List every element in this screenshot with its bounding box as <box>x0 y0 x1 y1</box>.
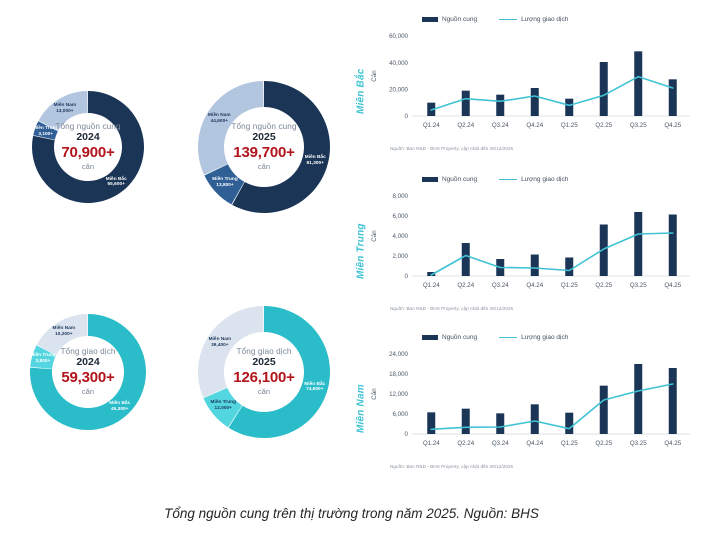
bar-Q4.24 <box>531 404 539 434</box>
bar-Q4.25 <box>669 368 677 434</box>
legend-bar-label: Nguồn cung <box>442 176 477 183</box>
donut-segment-miền-nam <box>198 306 264 397</box>
y-tick-label: 8,000 <box>393 193 409 200</box>
x-tick-label: Q3.24 <box>492 122 509 129</box>
y-tick-label: 0 <box>405 431 409 438</box>
donut-segment-miền-nam <box>39 91 88 131</box>
legend-item-supply: Nguồn cung <box>422 16 477 23</box>
legend-line-label: Lượng giao dịch <box>521 16 568 23</box>
x-tick-label: Q1.25 <box>561 282 578 289</box>
y-tick-label: 0 <box>405 113 409 120</box>
bar-Q1.25 <box>565 413 573 434</box>
bar-Q3.25 <box>634 51 642 116</box>
x-tick-label: Q4.25 <box>664 440 681 447</box>
chart-block-mien-trung: Miền TrungNguồn cungLượng giao dịch02,00… <box>352 174 703 322</box>
donut-chart-supply-2025: Miền Bắc81,300+Miền Trung13,800+Miền Nam… <box>176 34 352 259</box>
donut-chart-transactions-2025: Miền Bắc74,600+Miền Trung12,000+Miền Nam… <box>176 259 352 484</box>
chart-region-label-mien-trung: Miền Trung <box>354 208 368 294</box>
x-tick-label: Q4.25 <box>664 122 681 129</box>
bar-Q4.25 <box>669 79 677 116</box>
bar-Q3.24 <box>496 95 504 116</box>
y-tick-label: 6,000 <box>393 213 409 220</box>
bar-Q3.24 <box>496 413 504 434</box>
x-tick-label: Q1.24 <box>423 122 440 129</box>
y-axis-title: Căn <box>371 230 378 242</box>
donut-segment-miền-nam <box>37 314 88 355</box>
chart-block-mien-nam: Miền NamNguồn cungLượng giao dịch06,0001… <box>352 332 703 484</box>
x-tick-label: Q2.25 <box>595 282 612 289</box>
bar-Q2.25 <box>600 62 608 116</box>
chart-plot-mien-bac: 020,00040,00060,000CănQ1.24Q2.24Q3.24Q4.… <box>368 24 698 142</box>
donut-chart-supply-2024: Miền Bắc55,600+Miền Trung3,100+Miền Nam1… <box>0 34 176 259</box>
chart-legend: Nguồn cungLượng giao dịch <box>422 334 568 341</box>
chart-legend: Nguồn cungLượng giao dịch <box>422 16 568 23</box>
y-tick-label: 6,000 <box>393 411 409 418</box>
legend-item-supply: Nguồn cung <box>422 176 477 183</box>
x-tick-label: Q2.24 <box>457 440 474 447</box>
x-tick-label: Q4.24 <box>526 122 543 129</box>
bar-Q3.25 <box>634 364 642 434</box>
x-tick-label: Q1.24 <box>423 440 440 447</box>
bar-Q1.25 <box>565 99 573 116</box>
bar-Q3.25 <box>634 212 642 276</box>
bar-Q2.24 <box>462 409 470 434</box>
infographic-page: Miền Bắc55,600+Miền Trung3,100+Miền Nam1… <box>0 0 703 533</box>
figure-caption: Tổng nguồn cung trên thị trường trong nă… <box>0 506 703 521</box>
legend-item-transactions: Lượng giao dịch <box>499 334 568 341</box>
chart-source-note: Nguồn: Ban R&D - BHS Property, cập nhật … <box>390 306 513 311</box>
bar-Q2.25 <box>600 386 608 434</box>
donut-chart-grid: Miền Bắc55,600+Miền Trung3,100+Miền Nam1… <box>0 34 352 484</box>
bar-Q2.24 <box>462 91 470 116</box>
chart-region-label-mien-nam: Miền Nam <box>354 366 368 452</box>
chart-block-mien-bac: Miền BắcNguồn cungLượng giao dịch020,000… <box>352 14 703 166</box>
legend-item-supply: Nguồn cung <box>422 334 477 341</box>
legend-line-swatch <box>499 19 517 20</box>
donut-ring: Miền Bắc81,300+Miền Trung13,800+Miền Nam… <box>196 79 332 215</box>
y-tick-label: 20,000 <box>389 87 408 94</box>
chart-source-note: Nguồn: Ban R&D - BHS Property, cập nhật … <box>390 146 513 151</box>
x-tick-label: Q4.24 <box>526 282 543 289</box>
legend-bar-label: Nguồn cung <box>442 16 477 23</box>
x-tick-label: Q2.25 <box>595 122 612 129</box>
donut-ring: Miền Bắc45,300+Miền Trung3,800+Miền Nam1… <box>28 312 148 432</box>
chart-region-label-mien-bac: Miền Bắc <box>354 48 368 134</box>
chart-plot-mien-nam: 06,00012,00018,00024,000CănQ1.24Q2.24Q3.… <box>368 342 698 460</box>
legend-line-label: Lượng giao dịch <box>521 334 568 341</box>
bar-Q4.25 <box>669 215 677 277</box>
y-axis-title: Căn <box>371 388 378 400</box>
legend-item-transactions: Lượng giao dịch <box>499 16 568 23</box>
y-tick-label: 2,000 <box>393 253 409 260</box>
bar-Q2.24 <box>462 243 470 276</box>
donut-ring: Miền Bắc74,600+Miền Trung12,000+Miền Nam… <box>196 304 332 440</box>
legend-line-swatch <box>499 179 517 180</box>
donut-ring: Miền Bắc55,600+Miền Trung3,100+Miền Nam1… <box>30 89 146 205</box>
x-tick-label: Q1.24 <box>423 282 440 289</box>
y-tick-label: 40,000 <box>389 60 408 67</box>
x-tick-label: Q2.24 <box>457 122 474 129</box>
y-tick-label: 24,000 <box>389 351 408 358</box>
legend-bar-swatch <box>422 17 438 22</box>
x-tick-label: Q3.25 <box>630 440 647 447</box>
regional-charts-column: Miền BắcNguồn cungLượng giao dịch020,000… <box>352 14 703 486</box>
chart-source-note: Nguồn: Ban R&D - BHS Property, cập nhật … <box>390 464 513 469</box>
x-tick-label: Q2.25 <box>595 440 612 447</box>
legend-bar-label: Nguồn cung <box>442 334 477 341</box>
chart-plot-mien-trung: 02,0004,0006,0008,000CănQ1.24Q2.24Q3.24Q… <box>368 184 698 302</box>
x-tick-label: Q3.25 <box>630 282 647 289</box>
bar-Q4.24 <box>531 88 539 116</box>
x-tick-label: Q4.25 <box>664 282 681 289</box>
y-tick-label: 18,000 <box>389 371 408 378</box>
legend-bar-swatch <box>422 335 438 340</box>
bar-Q1.25 <box>565 258 573 277</box>
x-tick-label: Q1.25 <box>561 440 578 447</box>
y-tick-label: 0 <box>405 273 409 280</box>
legend-line-label: Lượng giao dịch <box>521 176 568 183</box>
x-tick-label: Q2.24 <box>457 282 474 289</box>
x-tick-label: Q3.25 <box>630 122 647 129</box>
bar-Q1.24 <box>427 412 435 434</box>
legend-bar-swatch <box>422 177 438 182</box>
donut-segment-miền-nam <box>198 81 264 175</box>
x-tick-label: Q4.24 <box>526 440 543 447</box>
y-tick-label: 12,000 <box>389 391 408 398</box>
x-tick-label: Q3.24 <box>492 440 509 447</box>
y-tick-label: 60,000 <box>389 33 408 40</box>
x-tick-label: Q3.24 <box>492 282 509 289</box>
bar-Q4.24 <box>531 255 539 277</box>
chart-legend: Nguồn cungLượng giao dịch <box>422 176 568 183</box>
legend-item-transactions: Lượng giao dịch <box>499 176 568 183</box>
y-tick-label: 4,000 <box>393 233 409 240</box>
legend-line-swatch <box>499 337 517 338</box>
x-tick-label: Q1.25 <box>561 122 578 129</box>
y-axis-title: Căn <box>371 70 378 82</box>
donut-chart-transactions-2024: Miền Bắc45,300+Miền Trung3,800+Miền Nam1… <box>0 259 176 484</box>
